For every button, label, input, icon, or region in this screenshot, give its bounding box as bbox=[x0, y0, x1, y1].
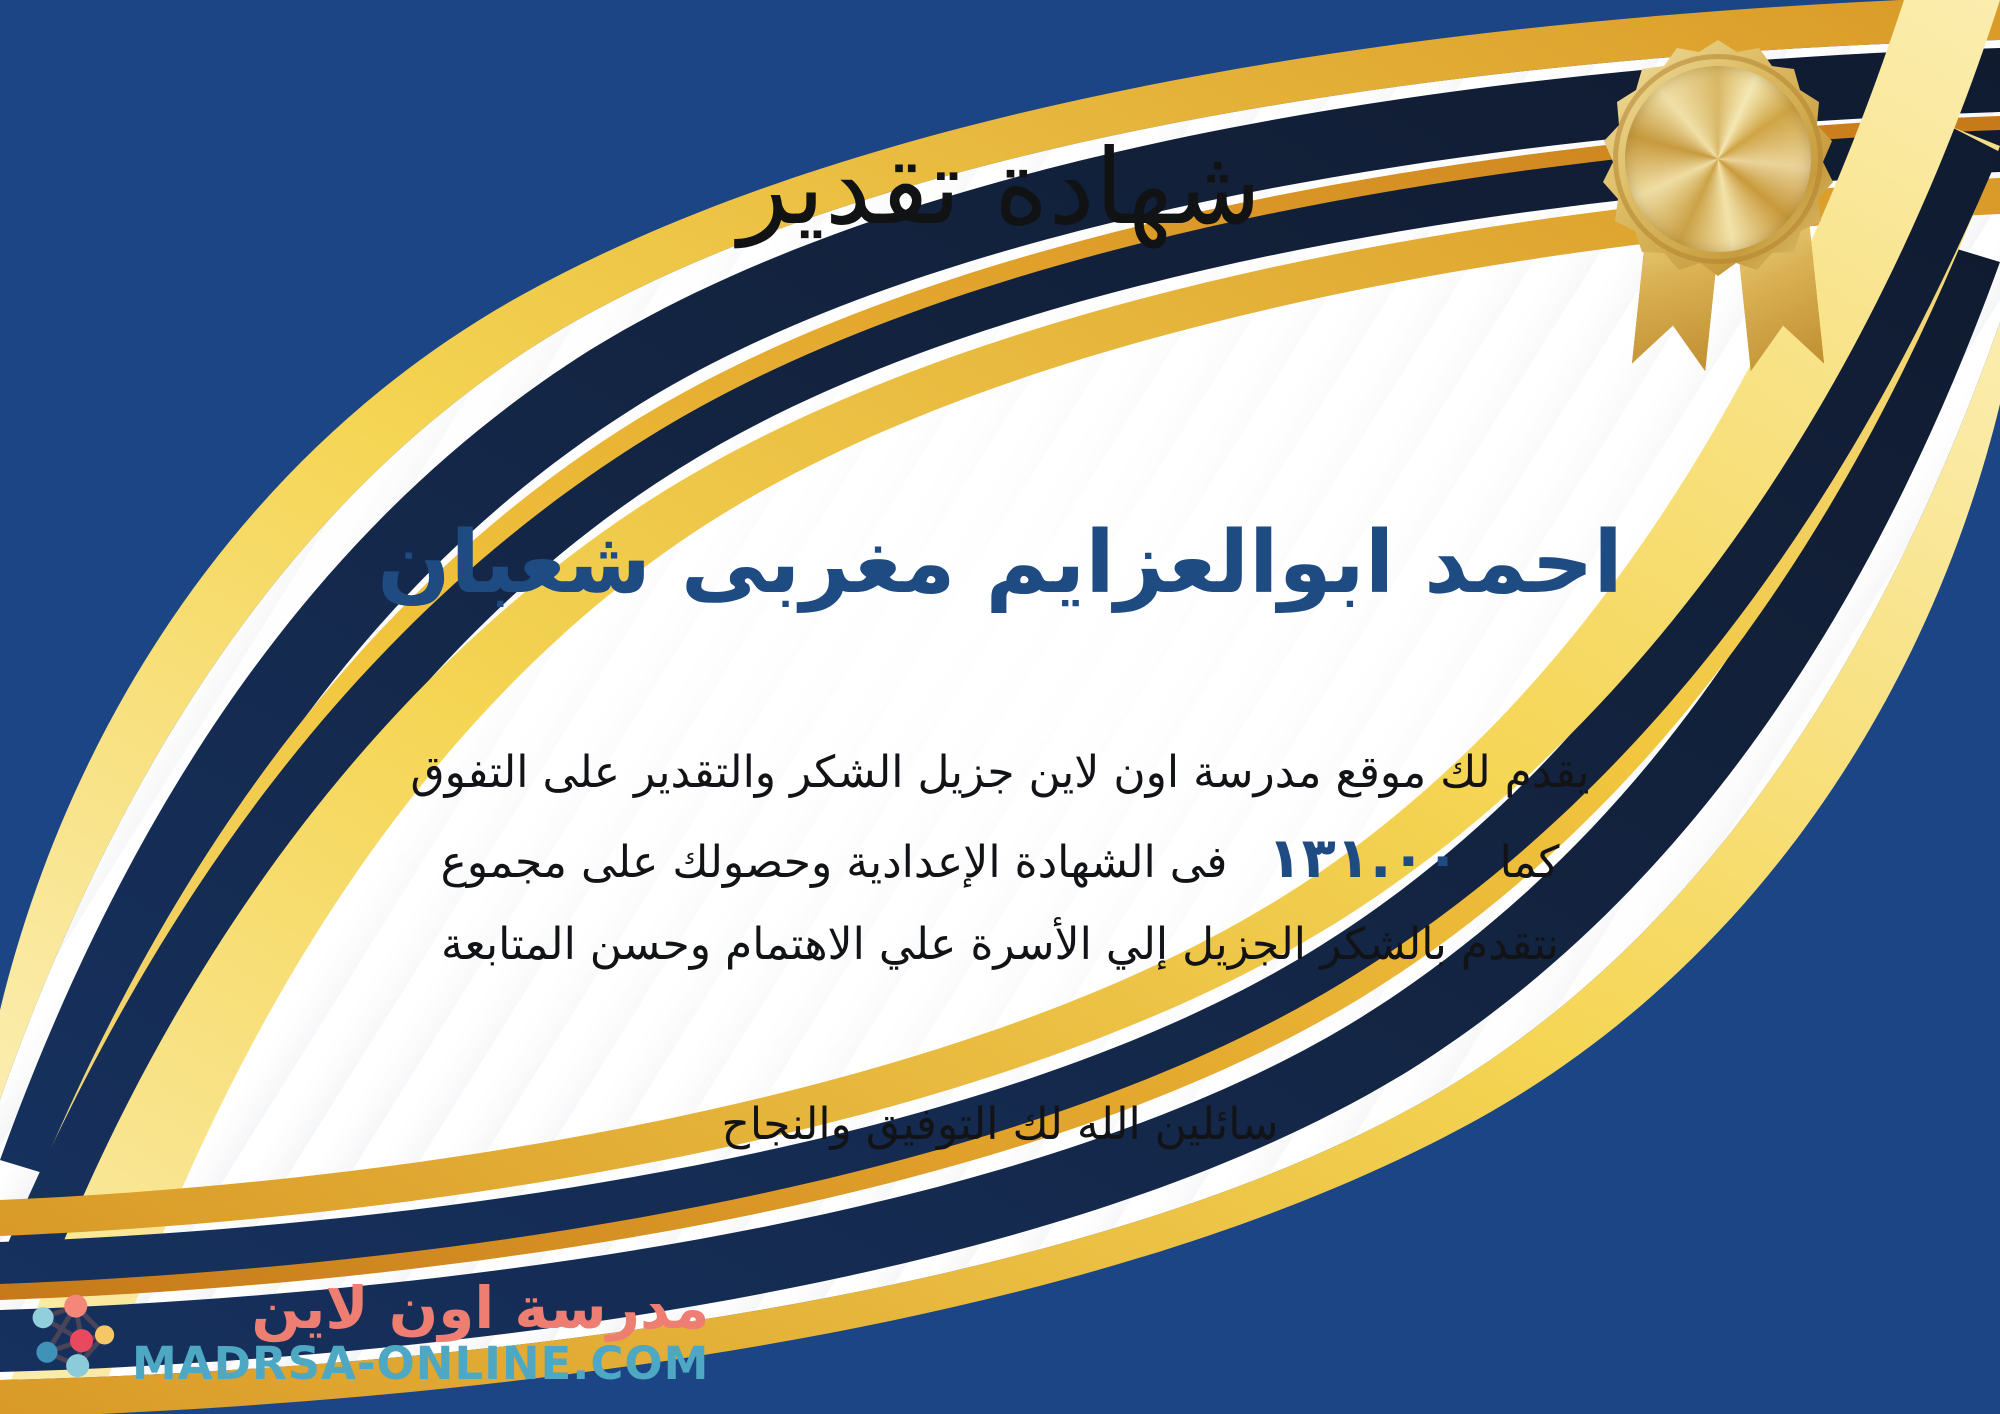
body-line-2: كما ١٣١.٠٠ فى الشهادة الإعدادية وحصولك ع… bbox=[50, 811, 1950, 907]
certificate-body: يقدم لك موقع مدرسة اون لاين جزيل الشكر و… bbox=[50, 735, 1950, 983]
body-line-2-suffix: كما bbox=[1500, 837, 1560, 888]
closing-wishes: سائلين الله لك التوفيق والنجاح bbox=[0, 1090, 2000, 1160]
certificate-page: شهادة تقدير احمد ابوالعزايم مغربى شعبان … bbox=[0, 0, 2000, 1414]
recipient-name: احمد ابوالعزايم مغربى شعبان bbox=[0, 512, 2000, 615]
certificate-content: شهادة تقدير احمد ابوالعزايم مغربى شعبان … bbox=[0, 0, 2000, 1414]
certificate-title: شهادة تقدير bbox=[0, 128, 2000, 248]
body-line-1: يقدم لك موقع مدرسة اون لاين جزيل الشكر و… bbox=[50, 735, 1950, 811]
body-line-3: نتقدم بالشكر الجزيل إلي الأسرة علي الاهت… bbox=[50, 907, 1950, 983]
score-value: ١٣١.٠٠ bbox=[1241, 826, 1485, 891]
brand-website-url: MADRSA-ONLINE.COM bbox=[132, 1339, 709, 1389]
network-nodes-icon bbox=[22, 1285, 118, 1381]
brand-name-arabic: مدرسة اون لاين bbox=[251, 1278, 709, 1339]
brand-logo-text: مدرسة اون لاين MADRSA-ONLINE.COM bbox=[132, 1278, 709, 1388]
brand-logo[interactable]: مدرسة اون لاين MADRSA-ONLINE.COM bbox=[22, 1278, 709, 1388]
body-line-2-prefix: فى الشهادة الإعدادية وحصولك على مجموع bbox=[441, 837, 1228, 888]
